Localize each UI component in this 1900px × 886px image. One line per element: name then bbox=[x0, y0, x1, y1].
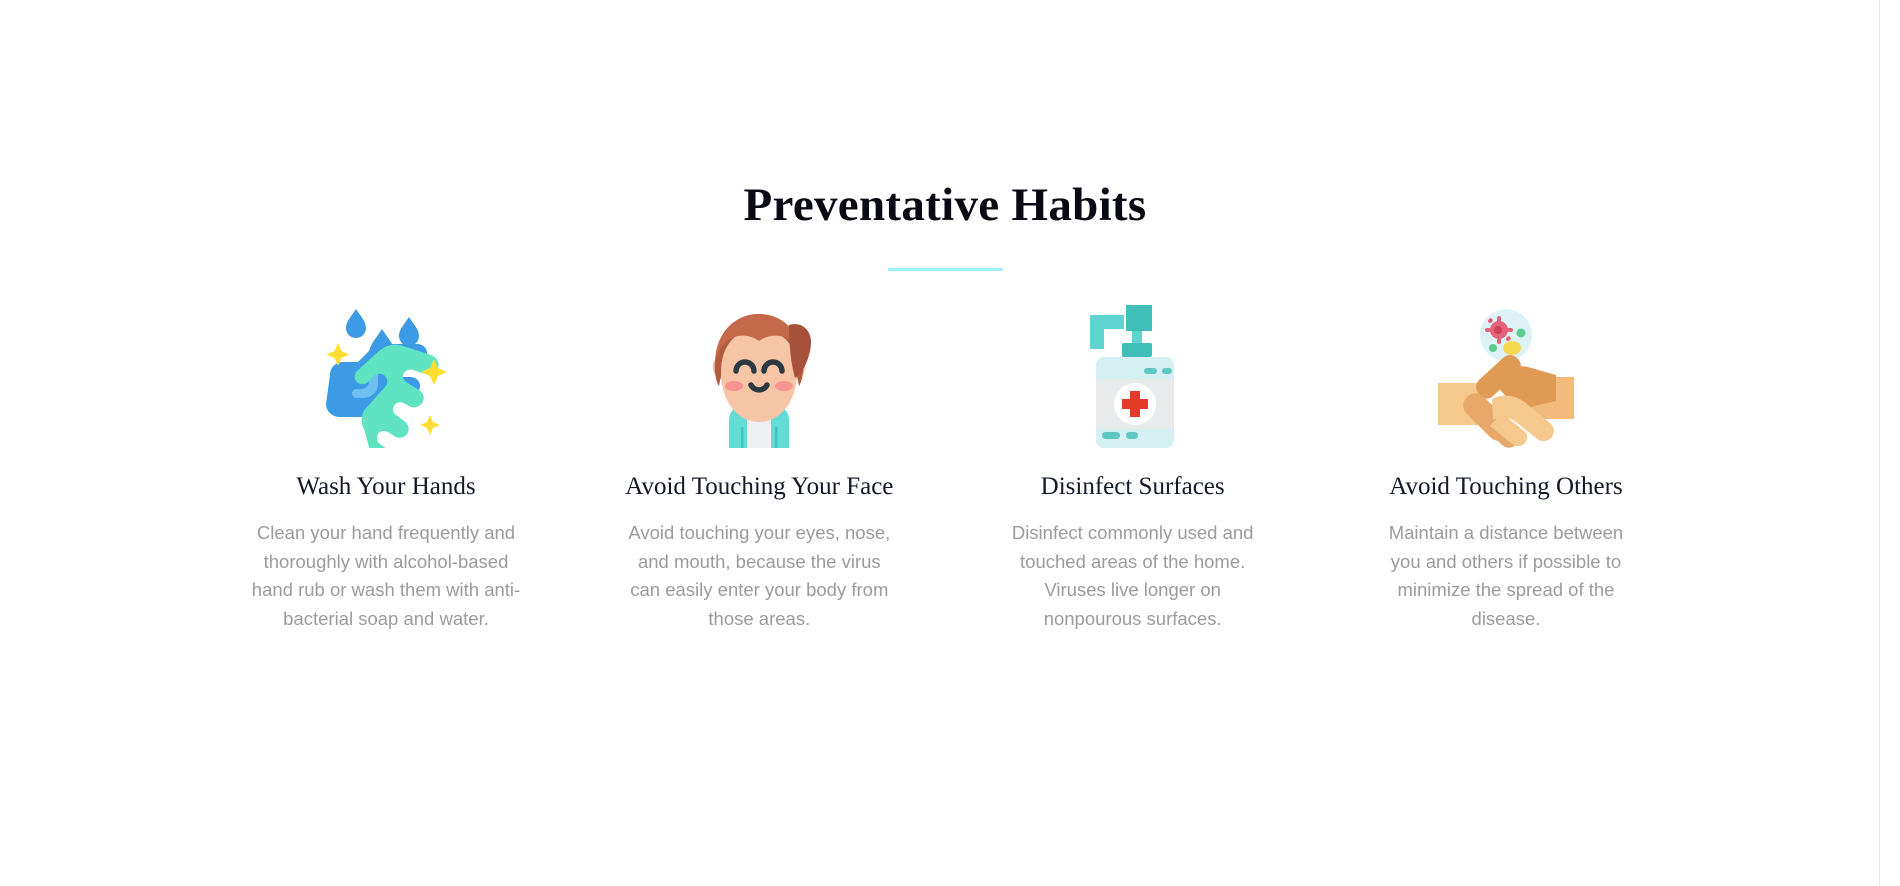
page-title: Preventative Habits bbox=[0, 178, 1890, 232]
face-avoid-touch-icon bbox=[679, 298, 839, 448]
card-description: Disinfect commonly used and touched area… bbox=[1003, 519, 1263, 633]
habit-card: Wash Your Hands Clean your hand frequent… bbox=[236, 298, 536, 633]
habit-card: Avoid Touching Your Face Avoid touching … bbox=[609, 298, 909, 633]
section-heading-block: Preventative Habits bbox=[0, 178, 1890, 271]
card-description: Maintain a distance between you and othe… bbox=[1378, 519, 1634, 633]
habit-card: Avoid Touching Others Maintain a distanc… bbox=[1356, 298, 1656, 633]
card-title: Wash Your Hands bbox=[296, 472, 475, 502]
title-divider bbox=[888, 268, 1003, 271]
habit-card-list: Wash Your Hands Clean your hand frequent… bbox=[236, 298, 1656, 633]
washing-hands-icon bbox=[306, 298, 466, 448]
card-description: Clean your hand frequently and thoroughl… bbox=[248, 519, 524, 633]
card-title: Avoid Touching Your Face bbox=[625, 472, 893, 502]
preventative-habits-section: Preventative Habits bbox=[0, 0, 1890, 886]
handshake-germs-icon bbox=[1426, 298, 1586, 448]
habit-card: Disinfect Surfaces Disinfect commonly us… bbox=[983, 298, 1283, 633]
card-title: Avoid Touching Others bbox=[1389, 472, 1622, 502]
page-root: Preventative Habits bbox=[0, 0, 1890, 886]
scrollbar-track[interactable] bbox=[1879, 0, 1890, 886]
card-title: Disinfect Surfaces bbox=[1041, 472, 1225, 502]
sanitizer-bottle-icon bbox=[1053, 298, 1213, 448]
card-description: Avoid touching your eyes, nose, and mout… bbox=[621, 519, 897, 633]
